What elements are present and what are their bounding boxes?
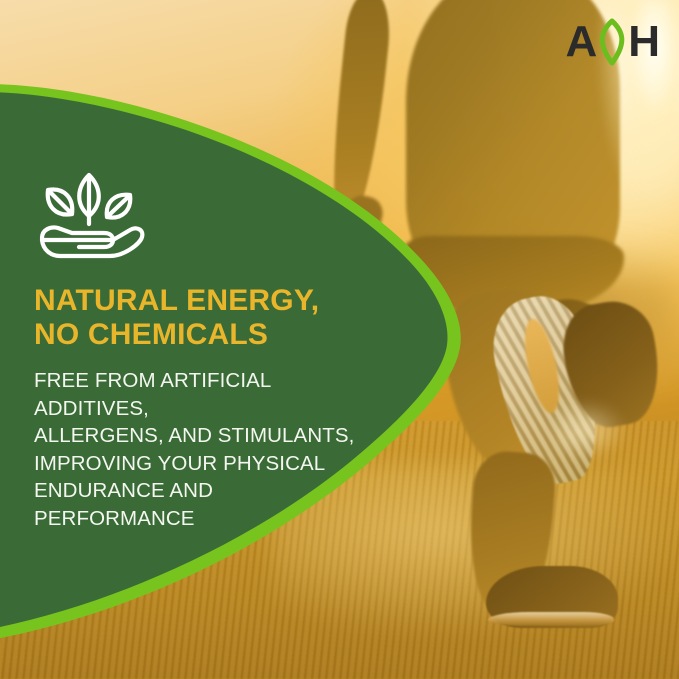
body-line-2: ALLERGENS, AND STIMULANTS, — [34, 422, 390, 449]
body-copy: FREE FROM ARTIFICIAL ADDITIVES, ALLERGEN… — [34, 367, 390, 532]
marketing-banner: NATURAL ENERGY, NO CHEMICALS FREE FROM A… — [0, 0, 679, 679]
body-line-5: PERFORMANCE — [34, 505, 390, 532]
panel-content: NATURAL ENERGY, NO CHEMICALS FREE FROM A… — [34, 166, 390, 532]
headline-line-1: NATURAL ENERGY, — [34, 284, 390, 318]
headline: NATURAL ENERGY, NO CHEMICALS — [34, 284, 390, 351]
brand-logo: A H — [565, 18, 659, 66]
logo-letter-h: H — [628, 20, 659, 64]
body-line-3: IMPROVING YOUR PHYSICAL — [34, 450, 390, 477]
hand-holding-plant-icon — [34, 166, 146, 262]
headline-line-2: NO CHEMICALS — [34, 318, 390, 352]
body-line-1: FREE FROM ARTIFICIAL ADDITIVES, — [34, 367, 390, 422]
body-line-4: ENDURANCE AND — [34, 477, 390, 504]
leaf-o-icon — [594, 18, 630, 66]
logo-letter-a: A — [565, 20, 596, 64]
